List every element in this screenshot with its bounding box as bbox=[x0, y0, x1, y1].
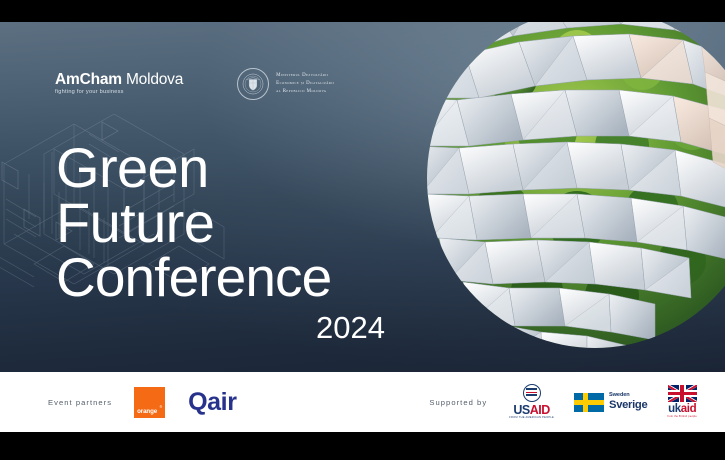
sweden-wordmark-en: Sweden bbox=[609, 393, 647, 399]
ministry-logo: Ministerul Dezvoltării Economice și Digi… bbox=[237, 68, 334, 100]
ukaid-logo[interactable]: ukaid from the British people bbox=[667, 385, 697, 419]
title-line-green: Green bbox=[56, 140, 401, 195]
sweden-flag-icon bbox=[574, 393, 604, 412]
event-partners-label: Event partners bbox=[48, 398, 112, 407]
amcham-tagline: fighting for your business bbox=[55, 90, 183, 96]
letterbox-bottom bbox=[0, 432, 725, 460]
partner-bar: Event partners orange ® Qair Supported b… bbox=[0, 372, 725, 432]
usaid-wordmark-us: US bbox=[513, 403, 529, 417]
green-sphere-artwork bbox=[417, 22, 725, 372]
ministry-line-3: al Republicii Moldova bbox=[276, 88, 334, 96]
sweden-wordmark-sv: Sverige bbox=[609, 400, 647, 411]
ministry-line-2: Economice și Digitalizării bbox=[276, 80, 334, 88]
amcham-name-light: Moldova bbox=[126, 71, 183, 88]
event-title: Green Future Conference 2024 bbox=[56, 140, 401, 343]
usaid-caption: FROM THE AMERICAN PEOPLE bbox=[509, 417, 554, 420]
supported-by-label: Supported by bbox=[429, 398, 487, 407]
hero-section: AmCham Moldova fighting for your busines… bbox=[0, 22, 725, 372]
usaid-logo[interactable]: USAID FROM THE AMERICAN PEOPLE bbox=[509, 384, 554, 420]
orange-registered-mark: ® bbox=[160, 405, 163, 409]
title-line-future: Future bbox=[56, 195, 401, 250]
usaid-seal-icon bbox=[523, 384, 541, 402]
amcham-moldova-logo: AmCham Moldova fighting for your busines… bbox=[55, 72, 183, 96]
qair-logo[interactable]: Qair bbox=[188, 390, 236, 415]
title-line-conference: Conference bbox=[56, 250, 401, 305]
event-year: 2024 bbox=[56, 312, 401, 343]
usaid-wordmark-aid: AID bbox=[530, 403, 550, 417]
union-jack-icon bbox=[668, 385, 697, 402]
supporters-group: Supported by USAID FROM THE AMERICAN PEO… bbox=[429, 384, 697, 420]
orange-wordmark: orange bbox=[137, 408, 157, 415]
ukaid-wordmark-aid: aid bbox=[681, 403, 696, 415]
ministry-line-1: Ministerul Dezvoltării bbox=[276, 72, 334, 80]
ukaid-caption: from the British people bbox=[667, 416, 697, 419]
sweden-logo[interactable]: Sweden Sverige bbox=[574, 393, 647, 412]
orange-logo[interactable]: orange ® bbox=[134, 387, 165, 418]
logo-row: AmCham Moldova fighting for your busines… bbox=[55, 68, 334, 100]
event-partners-group: Event partners orange ® Qair bbox=[48, 387, 237, 418]
usaid-wordmark: USAID bbox=[513, 404, 549, 417]
amcham-name-bold: AmCham bbox=[55, 71, 122, 88]
ukaid-wordmark: ukaid bbox=[668, 404, 696, 416]
ukaid-wordmark-uk: uk bbox=[668, 403, 681, 415]
presentation-slide: AmCham Moldova fighting for your busines… bbox=[0, 0, 725, 460]
sweden-wordmark: Sweden Sverige bbox=[609, 393, 647, 411]
letterbox-top bbox=[0, 0, 725, 22]
moldova-coat-of-arms-icon bbox=[237, 68, 269, 100]
ministry-name: Ministerul Dezvoltării Economice și Digi… bbox=[276, 72, 334, 96]
